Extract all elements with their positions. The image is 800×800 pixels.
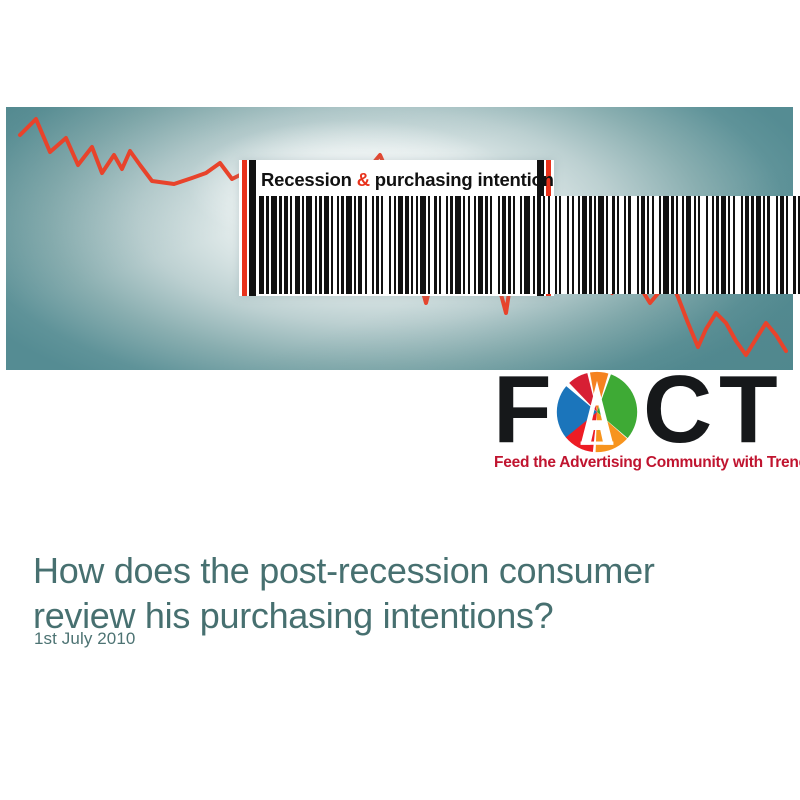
logo-letter-c: C — [643, 362, 710, 458]
barcode-graphic: Recession & purchasing intention — [239, 160, 554, 296]
page-title-line-1: How does the post-recession consumer — [33, 548, 763, 593]
fact-logo: F — [491, 366, 793, 478]
logo-letter-t: T — [719, 362, 776, 458]
barcode-title: Recession & purchasing intention — [261, 167, 532, 193]
barcode-black-edge-left — [249, 160, 256, 296]
barcode-title-ampersand: & — [357, 169, 370, 190]
fact-logo-wordmark: F — [491, 366, 793, 452]
barcode-title-suffix: purchasing intention — [370, 169, 554, 190]
logo-letter-a-icon — [556, 371, 638, 453]
page-title-line-2: review his purchasing intentions? — [33, 593, 763, 638]
page-title: How does the post-recession consumer rev… — [33, 548, 763, 638]
barcode-title-prefix: Recession — [261, 169, 357, 190]
presentation-date: 1st July 2010 — [34, 629, 135, 649]
barcode-bars — [259, 196, 534, 294]
logo-tagline: Feed the Advertising Community with Tren… — [494, 454, 800, 472]
logo-letter-f: F — [493, 362, 550, 458]
barcode-red-edge-left — [242, 160, 247, 296]
